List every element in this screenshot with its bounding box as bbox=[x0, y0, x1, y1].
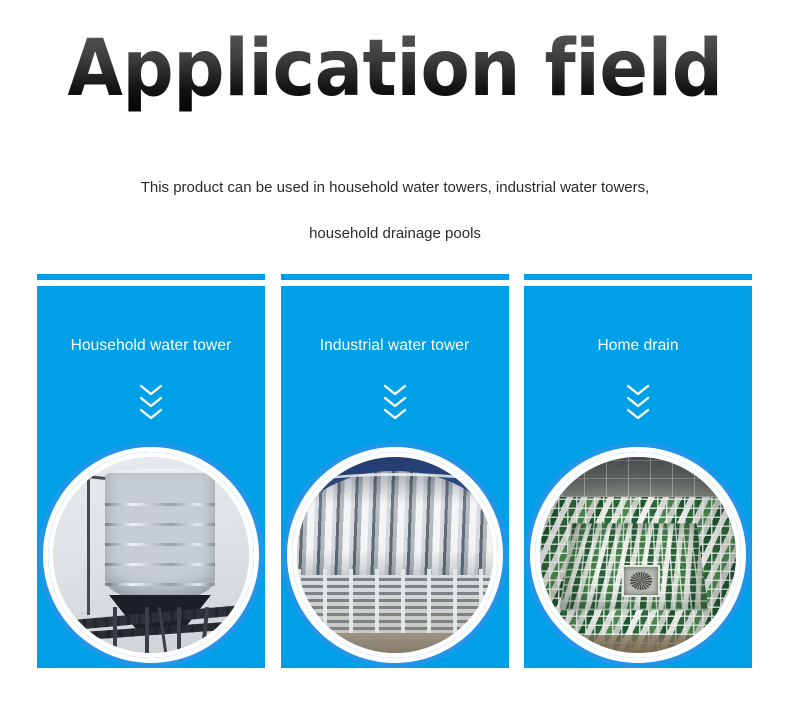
application-card-industrial-water-tower[interactable]: Industrial water tower bbox=[281, 274, 509, 664]
application-cards: Household water tower bbox=[37, 274, 752, 664]
photo-leg bbox=[113, 607, 117, 653]
card-accent-bar bbox=[524, 274, 752, 280]
card-accent-bar bbox=[281, 274, 509, 280]
photo-ground bbox=[297, 633, 493, 653]
photo-leg bbox=[177, 607, 181, 653]
chevron-down-triple-icon bbox=[382, 382, 408, 422]
photo-tower-rim bbox=[301, 473, 493, 498]
card-label: Home drain bbox=[524, 336, 752, 356]
photo-ladder-rail bbox=[87, 475, 90, 615]
photo-tank-band bbox=[105, 503, 215, 506]
photo-image bbox=[297, 457, 493, 653]
card-photo-household-water-tower bbox=[48, 452, 254, 658]
application-field-page: Application field This product can be us… bbox=[0, 0, 790, 713]
photo-tank-band bbox=[105, 523, 215, 526]
card-label: Industrial water tower bbox=[281, 336, 509, 356]
photo-support-posts bbox=[297, 569, 493, 643]
photo-image bbox=[53, 457, 249, 653]
page-subtitle: This product can be used in household wa… bbox=[0, 165, 790, 257]
photo-tank-band bbox=[105, 543, 215, 546]
subtitle-line-1: This product can be used in household wa… bbox=[0, 165, 790, 211]
application-card-home-drain[interactable]: Home drain bbox=[524, 274, 752, 664]
subtitle-line-2: household drainage pools bbox=[0, 211, 790, 257]
photo-image bbox=[540, 457, 736, 653]
card-label: Household water tower bbox=[37, 336, 265, 356]
chevron-down-triple-icon bbox=[625, 382, 651, 422]
chevron-down-triple-icon bbox=[138, 382, 164, 422]
card-accent-bar bbox=[37, 274, 265, 280]
card-photo-industrial-water-tower bbox=[292, 452, 498, 658]
photo-tank-body bbox=[105, 473, 215, 601]
photo-leg bbox=[145, 607, 149, 653]
application-card-household-water-tower[interactable]: Household water tower bbox=[37, 274, 265, 664]
photo-tank-band bbox=[105, 583, 215, 586]
page-title: Application field bbox=[32, 26, 759, 112]
card-photo-home-drain bbox=[535, 452, 741, 658]
photo-tank-band bbox=[105, 563, 215, 566]
photo-vignette bbox=[540, 457, 736, 653]
